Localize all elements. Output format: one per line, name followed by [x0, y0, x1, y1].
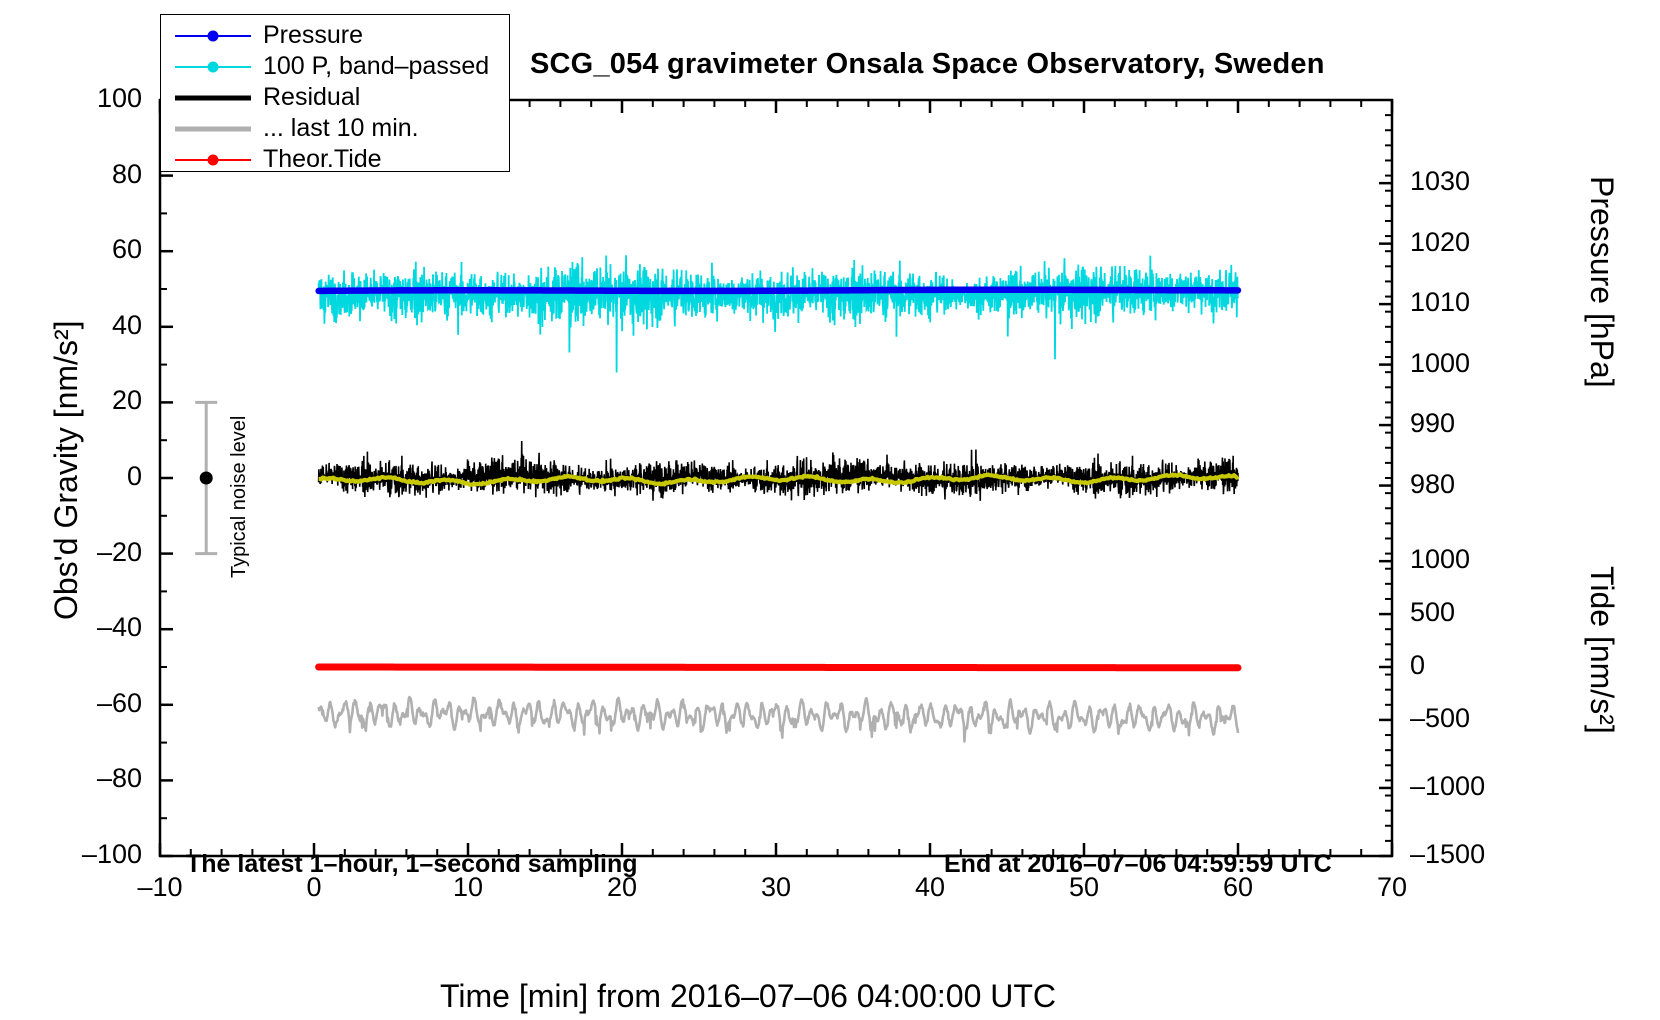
- legend-label-pressure: Pressure: [263, 21, 363, 50]
- series-pressure: [319, 290, 1238, 291]
- y-tick-label-right-pressure: 1030: [1410, 166, 1470, 197]
- noise-bar-center-dot: [200, 472, 213, 485]
- y-tick-label-right-pressure: 1010: [1410, 287, 1470, 318]
- legend-item-bandpassed[interactable]: 100 P, band–passed: [161, 51, 509, 82]
- y-tick-label-left: 100: [97, 83, 142, 114]
- y-tick-label-left: 80: [112, 159, 142, 190]
- legend-swatch-theortide: [175, 147, 251, 173]
- legend-item-residual[interactable]: Residual: [161, 82, 509, 113]
- legend-swatch-pressure: [175, 23, 251, 49]
- series-residual: [319, 441, 1238, 501]
- x-tick-label: 10: [453, 872, 483, 903]
- legend-label-residual: Residual: [263, 83, 360, 112]
- y-tick-label-left: –20: [97, 537, 142, 568]
- y-tick-label-left: 40: [112, 310, 142, 341]
- y-tick-label-right-tide: 1000: [1410, 544, 1470, 575]
- y-tick-label-right-tide: 500: [1410, 597, 1455, 628]
- series-band-passed: [319, 255, 1238, 372]
- x-tick-label: 50: [1069, 872, 1099, 903]
- legend-label-last10: ... last 10 min.: [263, 114, 419, 143]
- series-theor-tide: [319, 667, 1238, 668]
- y-tick-label-right-pressure: 1020: [1410, 227, 1470, 258]
- legend-swatch-residual: [175, 85, 251, 111]
- chart-legend: Pressure 100 P, band–passed Residual ...…: [160, 14, 510, 172]
- footer-sampling-note: The latest 1–hour, 1–second sampling: [186, 850, 638, 879]
- x-tick-label: –10: [137, 872, 182, 903]
- y-tick-label-right-pressure: 980: [1410, 469, 1455, 500]
- y-tick-label-left: –100: [82, 839, 142, 870]
- y-tick-label-right-tide: –500: [1410, 703, 1470, 734]
- typical-noise-level-label: Typical noise level: [228, 416, 251, 578]
- y-tick-label-right-pressure: 990: [1410, 408, 1455, 439]
- legend-item-theortide[interactable]: Theor.Tide: [161, 144, 509, 175]
- x-tick-label: 60: [1223, 872, 1253, 903]
- y-tick-label-right-tide: 0: [1410, 650, 1425, 681]
- y-tick-label-right-pressure: 1000: [1410, 348, 1470, 379]
- series-last-10-min: [319, 697, 1238, 741]
- legend-label-theortide: Theor.Tide: [263, 145, 382, 174]
- y-tick-label-right-tide: –1000: [1410, 771, 1485, 802]
- x-tick-label: 30: [761, 872, 791, 903]
- chart-title: SCG_054 gravimeter Onsala Space Observat…: [530, 48, 1325, 81]
- y-tick-label-left: –80: [97, 763, 142, 794]
- y-tick-label-right-tide: –1500: [1410, 839, 1485, 870]
- y-tick-label-left: 20: [112, 385, 142, 416]
- legend-item-pressure[interactable]: Pressure: [161, 20, 509, 51]
- x-axis-title: Time [min] from 2016–07–06 04:00:00 UTC: [440, 978, 1056, 1015]
- legend-label-bandpassed: 100 P, band–passed: [263, 52, 489, 81]
- y-axis-title-right-pressure: Pressure [hPa]: [1583, 176, 1620, 388]
- y-tick-label-left: –60: [97, 688, 142, 719]
- x-tick-label: 70: [1377, 872, 1407, 903]
- legend-swatch-last10: [175, 116, 251, 142]
- x-tick-label: 40: [915, 872, 945, 903]
- y-tick-label-left: 0: [127, 461, 142, 492]
- legend-swatch-bandpassed: [175, 54, 251, 80]
- y-tick-label-left: 60: [112, 234, 142, 265]
- legend-item-last10[interactable]: ... last 10 min.: [161, 113, 509, 144]
- y-axis-title-left: Obs'd Gravity [nm/s²]: [48, 321, 85, 621]
- footer-end-time-note: End at 2016–07–06 04:59:59 UTC: [944, 850, 1332, 879]
- x-tick-label: 20: [607, 872, 637, 903]
- x-tick-label: 0: [306, 872, 321, 903]
- y-axis-title-right-tide: Tide [nm/s²]: [1583, 566, 1620, 734]
- gravimeter-chart-figure: SCG_054 gravimeter Onsala Space Observat…: [0, 0, 1660, 1020]
- y-tick-label-left: –40: [97, 612, 142, 643]
